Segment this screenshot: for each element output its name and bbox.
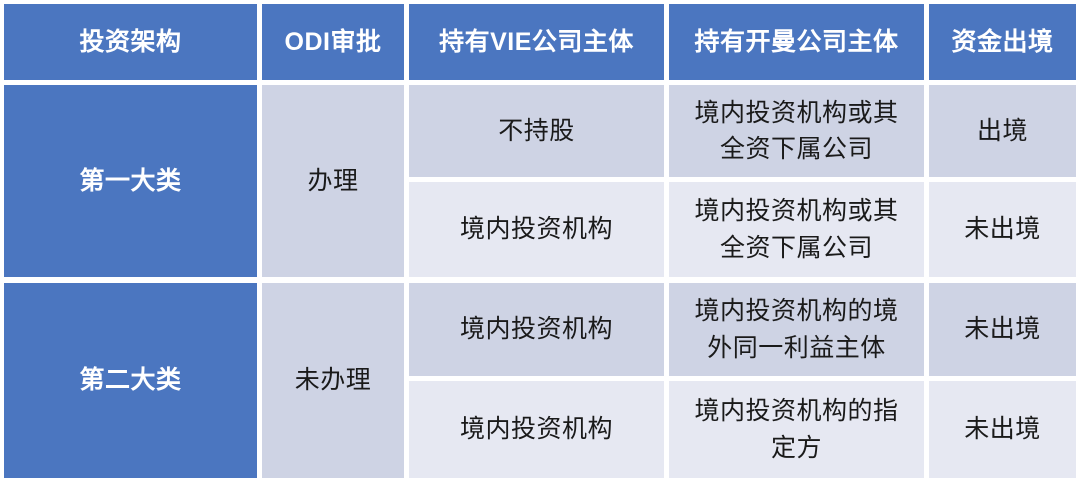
table-row: 境内投资机构的境 外同一利益主体 (669, 283, 924, 376)
cell-funds: 未出境 (958, 411, 1047, 447)
table-row: 不持股 (409, 85, 664, 177)
column-header-cayman-label: 持有开曼公司主体 (688, 24, 904, 60)
table-row: 出境 (929, 85, 1076, 177)
cell-vie: 境内投资机构 (454, 411, 619, 447)
cell-vie: 境内投资机构 (454, 211, 619, 247)
group-odi-1: 办理 (262, 85, 404, 277)
table-row: 境内投资机构的指 定方 (669, 381, 924, 478)
group-label-1: 第一大类 (4, 85, 257, 277)
group-odi-2: 未办理 (262, 283, 404, 478)
group-label-1-text: 第一大类 (73, 163, 187, 199)
cell-cayman: 境内投资机构或其 全资下属公司 (688, 193, 904, 266)
column-header-funds: 资金出境 (929, 4, 1076, 80)
cell-funds: 未出境 (958, 311, 1047, 347)
cell-funds: 未出境 (958, 211, 1047, 247)
table-row: 境内投资机构 (409, 182, 664, 277)
cell-cayman: 境内投资机构的境 外同一利益主体 (688, 293, 904, 366)
column-header-vie-label: 持有VIE公司主体 (433, 24, 640, 60)
group-label-2-text: 第二大类 (73, 362, 187, 398)
cell-funds: 出境 (971, 113, 1034, 149)
table-row: 境内投资机构或其 全资下属公司 (669, 85, 924, 177)
column-header-cayman: 持有开曼公司主体 (669, 4, 924, 80)
table-row: 未出境 (929, 381, 1076, 478)
table-row: 境内投资机构 (409, 381, 664, 478)
cell-vie: 境内投资机构 (454, 311, 619, 347)
column-header-structure: 投资架构 (4, 4, 257, 80)
column-header-odi-label: ODI审批 (279, 24, 388, 60)
column-header-odi: ODI审批 (262, 4, 404, 80)
investment-structure-table: 投资架构 ODI审批 持有VIE公司主体 持有开曼公司主体 资金出境 第一大类 … (0, 0, 1080, 482)
table-row: 未出境 (929, 182, 1076, 277)
cell-cayman: 境内投资机构或其 全资下属公司 (688, 95, 904, 168)
column-header-vie: 持有VIE公司主体 (409, 4, 664, 80)
table-row: 境内投资机构或其 全资下属公司 (669, 182, 924, 277)
table-row: 境内投资机构 (409, 283, 664, 376)
column-header-funds-label: 资金出境 (945, 24, 1059, 60)
column-header-structure-label: 投资架构 (73, 24, 187, 60)
cell-vie: 不持股 (492, 113, 581, 149)
group-odi-2-text: 未办理 (289, 362, 378, 398)
group-odi-1-text: 办理 (301, 163, 364, 199)
cell-cayman: 境内投资机构的指 定方 (688, 393, 904, 466)
table-row: 未出境 (929, 283, 1076, 376)
group-label-2: 第二大类 (4, 283, 257, 478)
